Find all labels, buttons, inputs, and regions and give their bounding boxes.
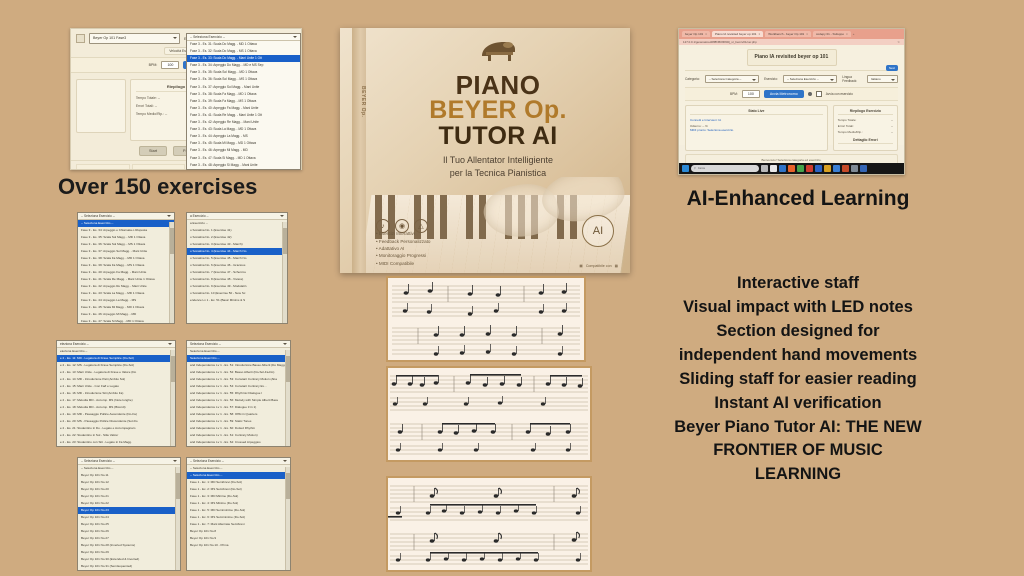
book-front: PIANO BEYER Op. TUTOR AI Il Tuo Allentat…	[366, 28, 630, 273]
dropdown-item[interactable]: Fase 3 - Es. 36: Scala Sol Magg. - MS 1 …	[187, 76, 300, 83]
list-item[interactable]: Fase 1 - Ex. 7: Mani Alternate Semibrevi	[187, 521, 290, 528]
bpm-input[interactable]: 100	[161, 61, 179, 69]
footer-cell	[76, 164, 130, 170]
list-item[interactable]: Fase 3 - Es. 36: Scala Sol Magg. - MS 1 …	[78, 241, 174, 248]
list-item[interactable]: Fase 3 - Es. 46: Arpeggio Mi Magg. - MD	[78, 311, 174, 318]
summary-value: --	[891, 130, 893, 134]
summary-key: Tempo Medio/Rip.:	[838, 130, 863, 134]
scrollbar-thumb[interactable]	[176, 473, 180, 499]
list-panel-header[interactable]: Seleziona Esercizio --	[187, 341, 290, 348]
dropdown-item[interactable]: Fase 3 - Es. 46: Arpeggio Mi Magg. - MD	[187, 147, 300, 154]
category-select[interactable]: -- Seleziona Categoria --	[705, 75, 759, 83]
feature-line: Sliding staff for easier reading	[672, 368, 924, 392]
book-footer: ▦ Compatibile con ▩	[579, 264, 618, 268]
list-item[interactable]: Fase 1 - Ex. 2: MS Semibrevi (Do-Sol)	[187, 486, 290, 493]
page-title: Piano IA revisited beyer op 101	[747, 49, 837, 66]
book-bullet: • MIDI Compatibile	[376, 260, 430, 267]
summary-value: --	[891, 118, 893, 122]
new-tab-icon[interactable]: +	[853, 32, 855, 36]
list-item[interactable]: Beyer Op 101 No.28 (Inverted Systems)	[78, 542, 180, 549]
list-item[interactable]: Fase 3 - Es. 38: Scala Fa Magg. - MD 1 O…	[78, 255, 174, 262]
dropdown-item[interactable]: Fase 3 - Es. 33: Scala Do Magg. - Mani U…	[187, 55, 300, 62]
grand-piano-icon	[478, 38, 518, 64]
excel-icon[interactable]	[797, 165, 804, 172]
explorer-icon[interactable]	[770, 165, 777, 172]
phase-select[interactable]: Beyer Op 101 Fase3	[89, 33, 180, 44]
list-item[interactable]: a Esercizio --	[187, 220, 287, 227]
scrollbar[interactable]	[285, 350, 290, 446]
list-item[interactable]: o Sonatina No. 1 (Exercise 41)	[187, 227, 287, 234]
list-item[interactable]: Fase 3 - Es. 44: Arpeggio La Magg. - MS	[78, 297, 174, 304]
book-bullet: • Monitoraggio Progressi	[376, 252, 430, 259]
list-item[interactable]: Beyer Op 101 No.25	[78, 521, 180, 528]
live-link[interactable]: Connetti e Intervieni: IA	[690, 118, 823, 122]
list-item[interactable]: o Sonatina No. 6 (Exercise 46 - Gracious	[187, 262, 287, 269]
dropdown-item[interactable]: Fase 3 - Es. 44: Arpeggio La Magg. - MS	[187, 133, 300, 140]
dropdown-item[interactable]: Fase 3 - Es. 34: Arpeggio Do Magg. - MD …	[187, 62, 300, 69]
dropdown-item[interactable]: Fase 3 - Es. 48: Arpeggio Si Magg. - Man…	[187, 162, 300, 169]
url-text: 127.0.0.1/generatore/d8f8f450f4f90/j_sr_…	[683, 40, 894, 44]
feature-line: Interactive staff	[672, 272, 924, 296]
summary-row: Tempo Totale: --	[838, 118, 893, 122]
list-item[interactable]: Beyer Op 101 No.27	[78, 535, 180, 542]
browser-tab[interactable]: Piano IA revisited beyer op 101×	[712, 31, 763, 37]
list-item[interactable]: Fase 1 - Ex. 5: MD Semiminime (Do-Sol)	[187, 507, 290, 514]
dropdown-item[interactable]: Fase 3 - Es. 42: Arpeggio Re Magg. - Man…	[187, 119, 300, 126]
staff-image-2	[386, 366, 592, 462]
list-item[interactable]: and Independence Lv 1 - Ex. 63: Walking …	[187, 446, 290, 447]
close-icon[interactable]: ×	[758, 32, 760, 36]
list-item[interactable]: Fase 3 - Es. 42: Arpeggio Re Magg. - Man…	[78, 283, 174, 290]
list-panel-header[interactable]: a Esercizio --	[187, 213, 287, 220]
app-icon[interactable]	[860, 165, 867, 172]
exercise-list-panel-independence[interactable]: Seleziona Esercizio --Seleziona Esercizi…	[186, 340, 291, 447]
browser-tab[interactable]: codepy 01 - Sviluppo×	[813, 31, 851, 37]
list-item[interactable]: e 2 - Es. 11: MD - Legatura di Frase Sem…	[57, 355, 175, 362]
word-icon[interactable]	[815, 165, 822, 172]
heading-ai-enhanced-learning: AI-Enhanced Learning	[672, 186, 924, 212]
list-item[interactable]: Beyer Op 101 No.11	[78, 472, 180, 479]
list-item[interactable]: e 2 - Es. 23: Studentino con Sitt - Lega…	[57, 439, 175, 446]
feature-line: Instant AI verification	[672, 392, 924, 416]
midi-icon: ▦	[579, 264, 582, 268]
browser-tab[interactable]: beyer Op 101×	[682, 31, 710, 37]
staff-image-1	[386, 276, 586, 362]
category-label: Categoria:	[685, 77, 700, 81]
footer-cell	[132, 164, 186, 170]
bpm-input[interactable]: 100	[742, 90, 760, 98]
feature-line: Beyer Piano Tutor AI: THE NEW FRONTIER O…	[672, 416, 924, 488]
metronome-band: BPM: 100 Avvia Metronomo Avvia con eserc…	[685, 87, 898, 101]
loop-label: Avvia con esercizio	[826, 92, 853, 96]
content-columns: Stato Live Connetti e Intervieni: IA Odi…	[685, 101, 898, 151]
start-menu-icon[interactable]	[682, 165, 689, 172]
dropdown-item[interactable]: Fase 3 - Es. 40: Arpeggio Fa Magg. - Man…	[187, 105, 300, 112]
page-title-wrap: Piano IA revisited beyer op 101	[685, 49, 898, 66]
book-subtitle-line1: Il Tuo Allentator Intelligiente	[366, 154, 630, 167]
list-item[interactable]: e 2 - Es. 21: Studentino in Do - Legato …	[57, 425, 175, 432]
feedback-language-select[interactable]: Italiano	[867, 75, 898, 83]
dropdown-item[interactable]: Fase 3 - Es. 35: Scala Sol Magg. - MD 1 …	[187, 69, 300, 76]
list-item[interactable]: Beyer Op 101 No.30 (Extended & Inverted)	[78, 556, 180, 563]
book-bullet-list: • Esercizi Interattivi• Feedback Persona…	[376, 230, 430, 267]
taskview-icon[interactable]	[761, 165, 768, 172]
browser-tab-label: Piano IA revisited beyer op 101	[715, 32, 757, 36]
record-icon[interactable]	[808, 92, 812, 96]
live-link[interactable]: MIDI pronto: Seleziona esercizio.	[690, 128, 823, 132]
list-item[interactable]: and Independence Lv 1 - Ex. 55: Rhythmic…	[187, 390, 290, 397]
list-panel-header[interactable]: eleziona Esercizio --	[57, 341, 175, 348]
bpm-label: BPM:	[149, 63, 158, 67]
exercise-dropdown-open[interactable]: -- Seleziona Esercizio -- Fase 3 - Es. 3…	[186, 33, 301, 170]
list-item[interactable]: e 2 - Es. 13: Mani Unite - Legatura di F…	[57, 369, 175, 376]
book-bullet: • Esercizi Interattivi	[376, 230, 430, 237]
list-item[interactable]: Beyer Op 101 No.24	[78, 514, 180, 521]
list-item[interactable]: Beyer Op 101 No.21	[78, 493, 180, 500]
dropdown-item[interactable]: Fase 3 - Es. 41: Scala Re Magg. - Mani U…	[187, 112, 300, 119]
list-item[interactable]: eleziona Esercizio --	[57, 348, 175, 355]
app-icon[interactable]	[851, 165, 858, 172]
list-item[interactable]: e 2 - Es. 15: Mani Unite - Con Fa# e Leg…	[57, 383, 175, 390]
app-icon[interactable]	[833, 165, 840, 172]
list-item[interactable]: Fase 3 - Es. 47: Scala Si Magg. - MD 1 O…	[78, 318, 174, 324]
list-item[interactable]: and Independence Lv 1 - Ex. 56: Melody w…	[187, 397, 290, 404]
close-icon[interactable]: ×	[705, 32, 707, 36]
list-item[interactable]: Beyer Op 101 No.31 (Semitequented)	[78, 563, 180, 570]
book-spine	[352, 28, 366, 273]
dropdown-item[interactable]: Fase 3 - Es. 39: Scala Fa Magg. - MS 1 O…	[187, 98, 300, 105]
scrollbar-thumb[interactable]	[286, 473, 290, 499]
list-item[interactable]: e 2 - Es. 16: MD - Introduzione Siti (Am…	[57, 390, 175, 397]
bpm-label: BPM:	[730, 92, 738, 96]
staff-image-3	[386, 476, 592, 572]
dropdown-item[interactable]: Fase 3 - Es. 43: Scala La Magg. - MD 1 O…	[187, 126, 300, 133]
list-item[interactable]: Beyer Op 101 No.9	[187, 535, 290, 542]
dropdown-item[interactable]: Fase 3 - Es. 37: Arpeggio Sol Magg. - Ma…	[187, 84, 300, 91]
list-item[interactable]: e 2 - Es. 19: MD - Passaggio Pollice Asc…	[57, 411, 175, 418]
scrollbar[interactable]	[169, 222, 174, 323]
summary-panel: Riepilogo Esercizio Tempo Totale: -- Err…	[833, 105, 898, 151]
scrollbar-thumb[interactable]	[170, 228, 174, 254]
list-item[interactable]: and Independence Lv 1 - Ex. 51: Introduz…	[187, 362, 290, 369]
list-item[interactable]: e 2 - Es. 22: Studentino in Sol - Stile …	[57, 432, 175, 439]
list-item[interactable]: and Independence Lv 1 - Ex. 52: Basso Al…	[187, 369, 290, 376]
browser-screenshot: beyer Op 101×Piano IA revisited beyer op…	[678, 28, 905, 175]
exercise-list-panel-beyer-numbers[interactable]: -- Seleziona Esercizio ---- Seleziona Es…	[77, 457, 181, 571]
app-icon[interactable]	[842, 165, 849, 172]
browser-tab-label: beyer Op 101	[685, 32, 703, 36]
taskbar-search[interactable]: ⚲Cerca	[691, 165, 759, 172]
list-item[interactable]: Fase 1 - Ex. 4: MS Minime (Do-Sol)	[187, 500, 290, 507]
exercise-select[interactable]: -- Seleziona Esercizio --	[783, 75, 837, 83]
live-status-panel: Stato Live Connetti e Intervieni: IA Odi…	[685, 105, 828, 151]
dropdown-item[interactable]: Fase 3 - Es. 38: Scala Fa Magg. - MD 1 O…	[187, 91, 300, 98]
list-item[interactable]: -- Seleziona Esercizio --	[187, 472, 290, 479]
dropdown-item[interactable]: Fase 3 - Es. 45: Scala Mi Magg. - MD 1 O…	[187, 140, 300, 147]
scrollbar[interactable]	[285, 467, 290, 570]
music-notation-svg	[388, 368, 590, 460]
scrollbar-thumb[interactable]	[171, 356, 175, 382]
list-item[interactable]: o Sonatina No. 9 (Exercise 49 - Modulati…	[187, 283, 287, 290]
dropdown-header[interactable]: -- Seleziona Esercizio --	[187, 34, 300, 41]
list-item[interactable]: Beyer Op 101 No.29	[78, 549, 180, 556]
left-card	[76, 79, 126, 133]
music-notation-svg	[388, 278, 584, 360]
scrollbar-thumb[interactable]	[286, 356, 290, 382]
list-item[interactable]: Fase 3 - Es. 37: Arpeggio Sol Magg. - Ma…	[78, 248, 174, 255]
music-notation-svg	[388, 478, 590, 570]
list-item[interactable]: o Sonatina No. 4 (Exercise 44 - March No	[187, 248, 287, 255]
firefox-icon[interactable]	[788, 165, 795, 172]
list-item[interactable]: Fase 3 - Es. 35: Scala Sol Magg. - MD 1 …	[78, 234, 174, 241]
browser-tab[interactable]: Workbench - beyer Op 101×	[765, 31, 811, 37]
list-panel-header[interactable]: -- Seleziona Esercizio --	[78, 458, 180, 465]
bookmark-icon[interactable]: ☆	[897, 40, 900, 44]
list-item[interactable]: -- Seleziona Esercizio --	[187, 465, 290, 472]
slide-canvas: Beyer Op 101 Fase3 Esercizi: Velocità Es…	[0, 0, 1024, 576]
loop-checkbox[interactable]	[816, 91, 822, 97]
list-item[interactable]: endence Lv 1 - Ex. 51 (Basic Minims & S	[187, 297, 287, 304]
summary-row: Errori Totali: --	[838, 124, 893, 128]
browser-tab-label: Workbench - beyer Op 101	[768, 32, 804, 36]
errors-title: Dettaglio Errori	[838, 138, 893, 144]
scrollbar-thumb[interactable]	[283, 228, 287, 254]
list-item[interactable]: o Sonatina No. 7 (Exercise 47 - Scherzos	[187, 269, 287, 276]
list-item[interactable]: Fase 1 - Ex. 6: MS Semiminime (Do-Sol)	[187, 514, 290, 521]
browser-tab-label: codepy 01 - Sviluppo	[816, 32, 844, 36]
list-item[interactable]: Beyer Op 101 No.23	[78, 507, 180, 514]
summary-key: Errori Totali:	[838, 124, 854, 128]
list-item[interactable]: o Sonatina No. 5 (Exercise 45 - March No	[187, 255, 287, 262]
search-placeholder: Cerca	[698, 167, 705, 170]
heading-over-150-exercises: Over 150 exercises	[58, 174, 308, 200]
exercise-list-panel-legato[interactable]: eleziona Esercizio --eleziona Esercizio …	[56, 340, 176, 447]
list-item[interactable]: e 2 - Es. 24: Studio con Fa# e Sitt	[57, 446, 175, 447]
selection-form: Categoria: -- Seleziona Categoria -- Ese…	[685, 71, 898, 87]
exercise-list-panel-scales[interactable]: -- Seleziona Esercizio ---- Seleziona Es…	[77, 212, 175, 324]
list-item[interactable]: and Independence Lv 1 - Ex. 62: Crossed …	[187, 439, 290, 446]
list-item[interactable]: Beyer Op 101 No.10 - Prima	[187, 542, 290, 549]
list-item[interactable]: and Independence Lv 1 - Ex. 58: Offbt in…	[187, 411, 290, 418]
list-item[interactable]: and Independence Lv 1 - Ex. 54: Constant…	[187, 383, 290, 390]
browser-viewport: Piano IA revisited beyer op 101 Next Cat…	[679, 45, 904, 145]
list-item[interactable]: Fase 3 - Es. 45: Scala Mi Magg. - MD 1 O…	[78, 304, 174, 311]
next-button[interactable]: Next	[886, 65, 898, 71]
close-icon[interactable]: ×	[806, 32, 808, 36]
search-icon: ⚲	[694, 167, 696, 170]
scrollbar[interactable]	[175, 467, 180, 570]
feature-list-text: Interactive staffVisual impact with LED …	[672, 272, 924, 487]
book-title-line2: BEYER Op.	[366, 96, 630, 125]
book-title-line3: TUTOR AI	[366, 122, 630, 151]
list-item[interactable]: and Independence Lv 1 - Ex. 61: Contrary…	[187, 432, 290, 439]
list-item[interactable]: Fase 3 - Es. 41: Scala Re Magg. - Mani U…	[78, 276, 174, 283]
list-item[interactable]: o Sonatina No. 10 (Exercise 50 - New Sc	[187, 290, 287, 297]
dropdown-item[interactable]: Fase 3 - Es. 49: Studio su Scale e Arpeg…	[187, 169, 300, 170]
book-bullet: • Adattativo AI	[376, 245, 430, 252]
list-item[interactable]: Beyer Op 101 No.12	[78, 479, 180, 486]
list-item[interactable]: e 2 - Es. 17: Melodia MD - Accomp. MS (N…	[57, 397, 175, 404]
dropdown-item[interactable]: Fase 3 - Es. 31: Scala Do Magg. - MD 1 O…	[187, 41, 300, 48]
list-panel-header[interactable]: -- Seleziona Esercizio --	[78, 213, 174, 220]
dropdown-item[interactable]: Fase 3 - Es. 47: Scala Si Magg. - MD 1 O…	[187, 155, 300, 162]
scrollbar[interactable]	[282, 222, 287, 323]
edge-icon[interactable]	[779, 165, 786, 172]
list-item[interactable]: Beyer Op 101 No.22	[78, 500, 180, 507]
book-footer-text: Compatibile con	[586, 264, 612, 268]
scrollbar[interactable]	[170, 350, 175, 446]
book-bullet: • Feedback Personalizzato	[376, 238, 430, 245]
list-item[interactable]: e 2 - Es. 18: Melodia MD - Accomp. MS (B…	[57, 404, 175, 411]
start-metronome-button[interactable]: Avvia Metronomo	[764, 90, 804, 98]
list-item[interactable]: -- Seleziona Esercizio --	[78, 465, 180, 472]
list-item[interactable]: Beyer Op 101 No.8	[187, 528, 290, 535]
list-item[interactable]: and Independence Lv 1 - Ex. 59: Static T…	[187, 418, 290, 425]
list-item[interactable]: Fase 3 - Es. 34: Arpeggio e Chiamata o R…	[78, 227, 174, 234]
book-spine-text: BEYER Op.	[352, 86, 366, 117]
pdf-icon[interactable]	[806, 165, 813, 172]
list-item[interactable]: e 2 - Es. 20: MS - Passaggio Pollice Dis…	[57, 418, 175, 425]
book-cover-image: BEYER Op. PIANO BEYER Op. TUTOR AI Il Tu…	[340, 28, 630, 273]
list-item[interactable]: Seleziona Esercizio --	[187, 348, 290, 355]
live-panel-title: Stato Live	[690, 109, 823, 115]
summary-key: Tempo Totale:	[838, 118, 857, 122]
list-item[interactable]: and Independence Lv 1 - Ex. 53: Constant…	[187, 376, 290, 383]
list-item[interactable]: Fase 3 - Es. 40: Arpeggio Fa Magg. - Man…	[78, 269, 174, 276]
os-taskbar: ⚲Cerca	[679, 163, 904, 174]
summary-value: --	[891, 124, 893, 128]
summary-row: Tempo Medio/Rip.: --	[838, 130, 893, 134]
list-item[interactable]: o Sonatina No. 8 (Exercise 48 - Vivace)	[187, 276, 287, 283]
list-item[interactable]: o Sonatina No. 3 (Exercise 43 - March)	[187, 241, 287, 248]
list-panel-header[interactable]: -- Seleziona Esercizio --	[187, 458, 290, 465]
menu-icon[interactable]	[76, 34, 85, 43]
list-item[interactable]: Beyer Op 101 No.32 (Triplets)	[78, 570, 180, 571]
feature-line: Section designed for independent hand mo…	[672, 320, 924, 368]
list-item[interactable]: Fase 3 - Es. 39: Scala Fa Magg. - MS 1 O…	[78, 262, 174, 269]
list-item[interactable]: and Independence Lv 1 - Ex. 57: Dialogue…	[187, 404, 290, 411]
list-item[interactable]: and Independence Lv 1 - Ex. 60: Dotted R…	[187, 425, 290, 432]
feedback-language-label: Lingua Feedback:	[842, 75, 862, 83]
list-item[interactable]: Beyer Op 101 No.20	[78, 486, 180, 493]
start-button[interactable]: Start	[139, 146, 167, 156]
exercise-list-panel-fase1[interactable]: -- Seleziona Esercizio ---- Seleziona Es…	[186, 457, 291, 571]
browser-tab-bar[interactable]: beyer Op 101×Piano IA revisited beyer op…	[679, 29, 904, 39]
dropdown-item[interactable]: Fase 3 - Es. 32: Scala Do Magg. - MS 1 O…	[187, 48, 300, 55]
list-item[interactable]: e 2 - Es. 14: MD - Introduzione Pati (Am…	[57, 376, 175, 383]
device-icon: ▩	[615, 264, 618, 268]
list-item[interactable]: -- Seleziona Esercizio --	[78, 220, 174, 227]
exercise-label: Esercizio:	[764, 77, 778, 81]
list-item[interactable]: Fase 1 - Ex. 3: MD Minime (Do-Sol)	[187, 493, 290, 500]
list-item[interactable]: Seleziona Esercizio --	[187, 355, 290, 362]
list-item[interactable]: Beyer Op 101 No.26	[78, 528, 180, 535]
folder-icon[interactable]	[824, 165, 831, 172]
summary-title: Riepilogo Esercizio	[838, 109, 893, 115]
list-item[interactable]: Fase 3 - Es. 43: Scala La Magg. - MD 1 O…	[78, 290, 174, 297]
dropdown-item-list[interactable]: Fase 3 - Es. 31: Scala Do Magg. - MD 1 O…	[187, 41, 300, 170]
list-item[interactable]: e 2 - Es. 12: MS - Legatura di Frase Sem…	[57, 362, 175, 369]
list-item[interactable]: o Sonatina No. 2 (Exercise 42)	[187, 234, 287, 241]
ai-badge: AI	[582, 215, 614, 247]
exercise-list-panel-sonatinas[interactable]: a Esercizio --a Esercizio --o Sonatina N…	[186, 212, 288, 324]
feature-line: Visual impact with LED notes	[672, 296, 924, 320]
list-item[interactable]: Fase 1 - Ex. 1: MD Semibrevi (Do-Sol)	[187, 479, 290, 486]
close-icon[interactable]: ×	[846, 32, 848, 36]
